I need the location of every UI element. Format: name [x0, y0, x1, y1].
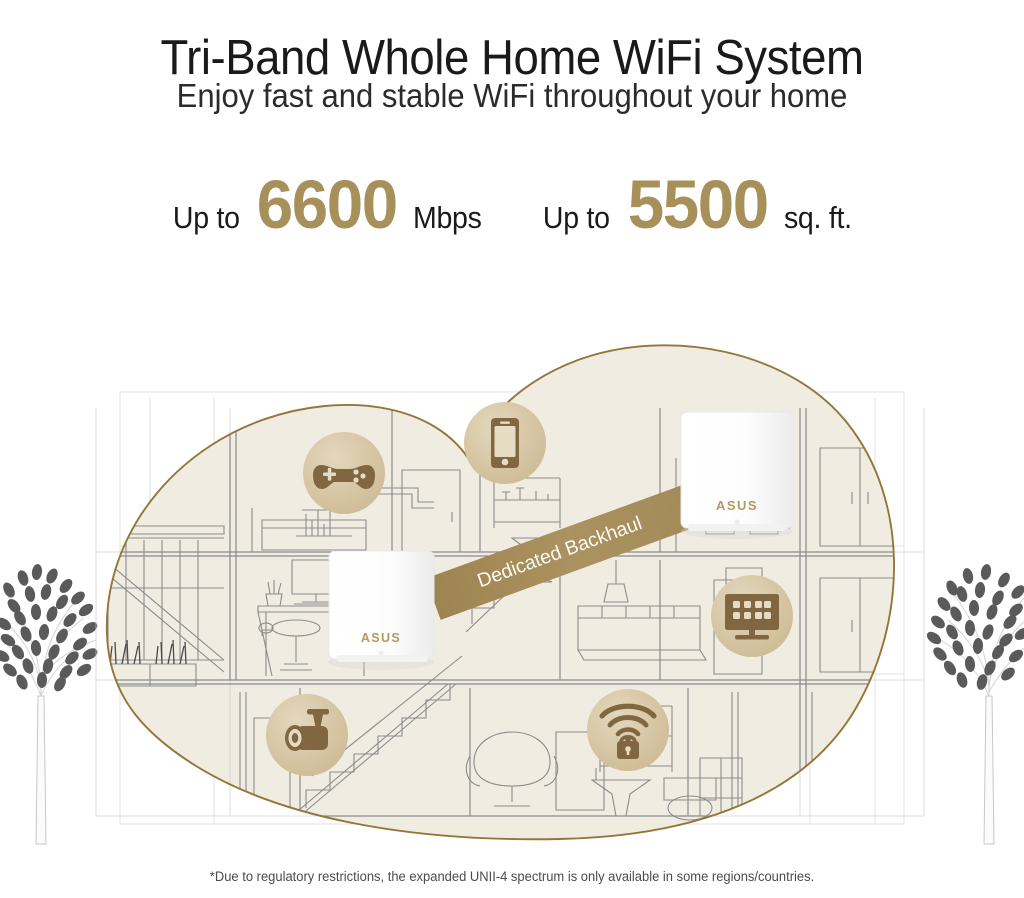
device-badge-security-camera — [266, 694, 348, 776]
house-illustration: Dedicated Backhaul ASUS — [0, 288, 1024, 858]
router-upstairs-logo: ASUS — [716, 498, 758, 513]
spec-coverage-value: 5500 — [628, 172, 768, 238]
spec-coverage-unit: sq. ft. — [783, 200, 851, 236]
device-badge-secure-wifi — [587, 689, 669, 771]
tree-right-leaves — [925, 563, 1024, 691]
spec-highlights: Up to 6600 Mbps Up to 5500 sq. ft. — [0, 172, 1024, 238]
device-badge-gamepad — [303, 432, 385, 514]
smartphone-icon — [491, 418, 519, 468]
spec-coverage: Up to 5500 sq. ft. — [540, 172, 854, 238]
tree-right-icon — [925, 563, 1024, 844]
page-subtitle: Enjoy fast and stable WiFi throughout yo… — [31, 74, 994, 118]
spec-speed-prefix: Up to — [173, 200, 240, 236]
spec-speed-unit: Mbps — [413, 200, 482, 236]
lower-grass — [122, 792, 174, 816]
footnote-text: *Due to regulatory restrictions, the exp… — [20, 869, 1003, 884]
product-marketing-page: Tri-Band Whole Home WiFi System Enjoy fa… — [0, 0, 1024, 898]
device-badge-smart-hub — [711, 575, 793, 657]
tree-left-leaves — [0, 563, 99, 693]
tree-left-icon — [0, 563, 99, 844]
router-downstairs: ASUS — [328, 551, 434, 670]
spec-coverage-prefix: Up to — [543, 200, 610, 236]
router-downstairs-logo: ASUS — [361, 631, 401, 645]
spec-speed: Up to 6600 Mbps — [170, 172, 485, 238]
device-badge-smartphone — [464, 402, 546, 484]
spec-speed-value: 6600 — [257, 172, 397, 238]
router-upstairs: ASUS — [681, 412, 793, 539]
